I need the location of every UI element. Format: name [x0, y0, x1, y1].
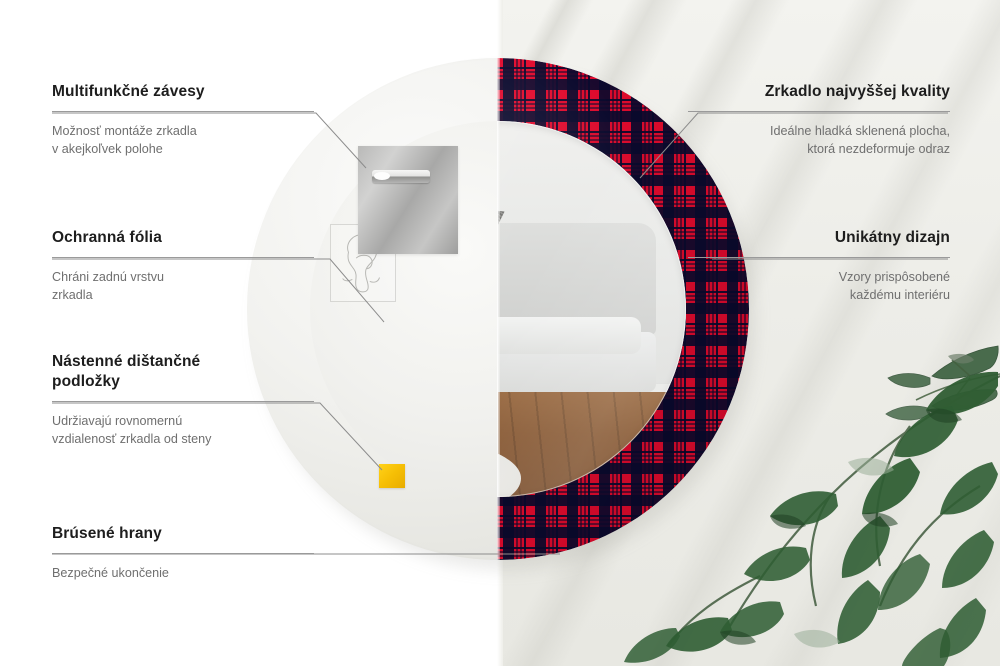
callout-heading: Unikátny dizajn [688, 228, 950, 248]
callout-heading: Ochranná fólia [52, 228, 314, 248]
callout-unikatny-dizajn: Unikátny dizajn Vzory prispôsobené každé… [688, 228, 950, 305]
callout-nastenne-distancne-podlozky: Nástenné dištančné podložky Udržiavajú r… [52, 352, 314, 448]
callout-rule [52, 401, 314, 402]
callout-body: Bezpečné ukončenie [52, 565, 314, 583]
product-half-seam [497, 58, 500, 560]
callout-heading: Brúsené hrany [52, 524, 314, 544]
callout-rule [52, 553, 314, 554]
callout-multifunkcne-zavesy: Multifunkčné závesy Možnosť montáže zrka… [52, 82, 314, 159]
callout-heading: Multifunkčné závesy [52, 82, 314, 102]
infographic-canvas: Multifunkčné závesy Možnosť montáže zrka… [0, 0, 1000, 666]
callout-ochranna-folia: Ochranná fólia Chráni zadnú vrstvu zrkad… [52, 228, 314, 305]
callout-body: Chráni zadnú vrstvu zrkadla [52, 269, 314, 305]
callout-rule [688, 257, 950, 258]
callout-body: Vzory prispôsobené každému interiéru [688, 269, 950, 305]
callout-heading: Zrkadlo najvyššej kvality [688, 82, 950, 102]
hanger-keyhole-slot [372, 170, 430, 183]
callout-body: Ideálne hladká sklenená plocha, ktorá ne… [688, 123, 950, 159]
wall-spacer-pad [379, 464, 405, 488]
callout-body: Možnosť montáže zrkadla v akejkoľvek pol… [52, 123, 314, 159]
callout-zrkadlo-najvyssej-kvality: Zrkadlo najvyššej kvality Ideálne hladká… [688, 82, 950, 159]
product-round-mirror [247, 58, 749, 560]
callout-rule [52, 257, 314, 258]
callout-rule [52, 111, 314, 112]
callout-body: Udržiavajú rovnomernú vzdialenosť zrkadl… [52, 413, 314, 449]
callout-rule [688, 111, 950, 112]
callout-heading: Nástenné dištančné podložky [52, 352, 314, 392]
wall-hanger-bracket [358, 146, 458, 254]
callout-brusene-hrany: Brúsené hrany Bezpečné ukončenie [52, 524, 314, 583]
